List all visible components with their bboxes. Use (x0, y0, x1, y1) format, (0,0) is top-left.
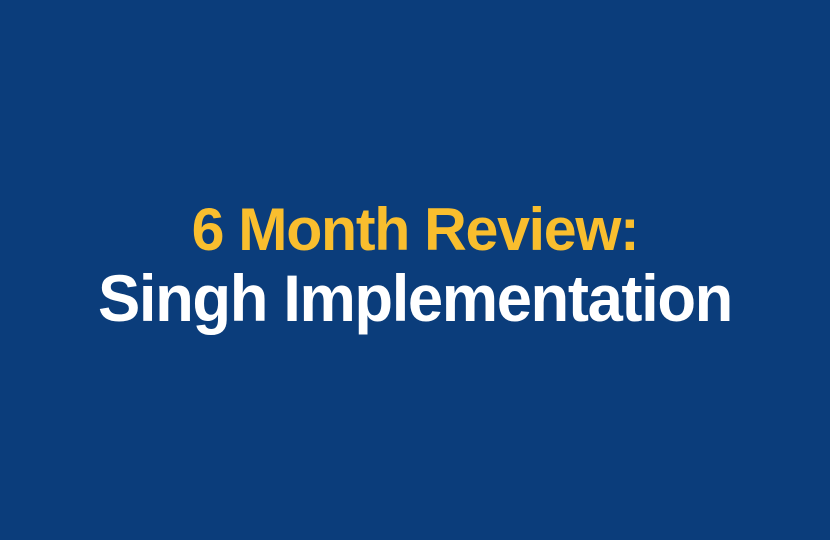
slide-title-line-secondary: Singh Implementation (34, 264, 796, 333)
slide-title-line-primary: 6 Month Review: (24, 199, 806, 261)
title-slide: 6 Month Review: Singh Implementation (0, 0, 830, 540)
slide-title-block: 6 Month Review: Singh Implementation (0, 199, 830, 332)
